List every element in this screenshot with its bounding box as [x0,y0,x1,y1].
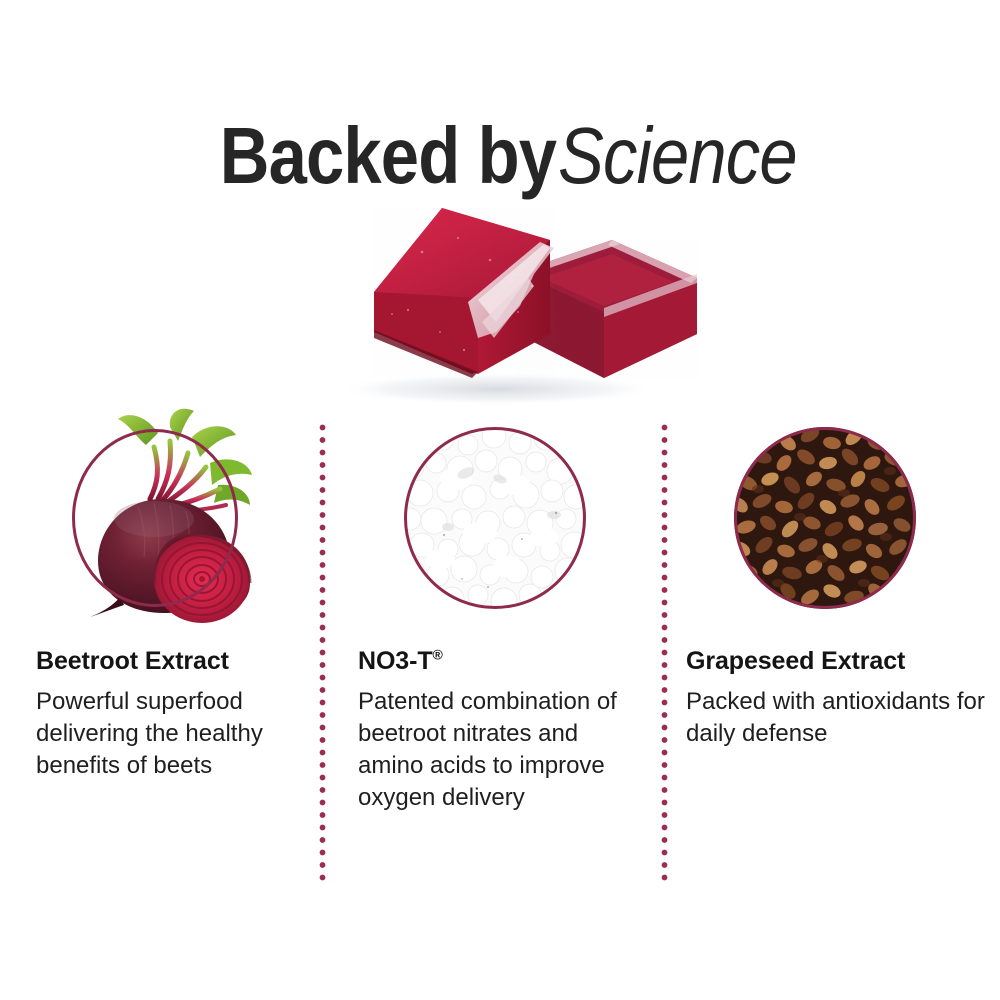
ingredient-circles [0,0,1000,1000]
registered-trademark-icon: ® [433,647,443,663]
column-body-no3t: Patented combination of beetroot nitrate… [358,686,646,815]
beetroot-photo [42,407,278,629]
column-title-no3t: NO3-T® [358,648,646,676]
column-beetroot-text: Beetroot Extract Powerful superfood deli… [36,648,308,782]
column-grapeseed-text: Grapeseed Extract Packed with antioxidan… [686,648,986,750]
column-title-no3t-text: NO3-T [358,647,433,675]
white-powder-photo [404,427,586,609]
column-title-beetroot: Beetroot Extract [36,648,308,676]
column-divider-2 [661,424,668,882]
column-divider-1 [319,424,326,882]
grapeseed-photo [734,427,916,609]
infographic-canvas: Backed byScience [0,0,1000,1000]
column-body-beetroot: Powerful superfood delivering the health… [36,686,308,782]
powder-circle [404,427,586,609]
column-body-grapeseed: Packed with antioxidants for daily defen… [686,686,986,750]
beetroot-circle [72,429,238,607]
grapeseed-circle [734,427,916,609]
column-title-grapeseed: Grapeseed Extract [686,648,986,676]
column-no3t-text: NO3-T® Patented combination of beetroot … [358,648,646,814]
